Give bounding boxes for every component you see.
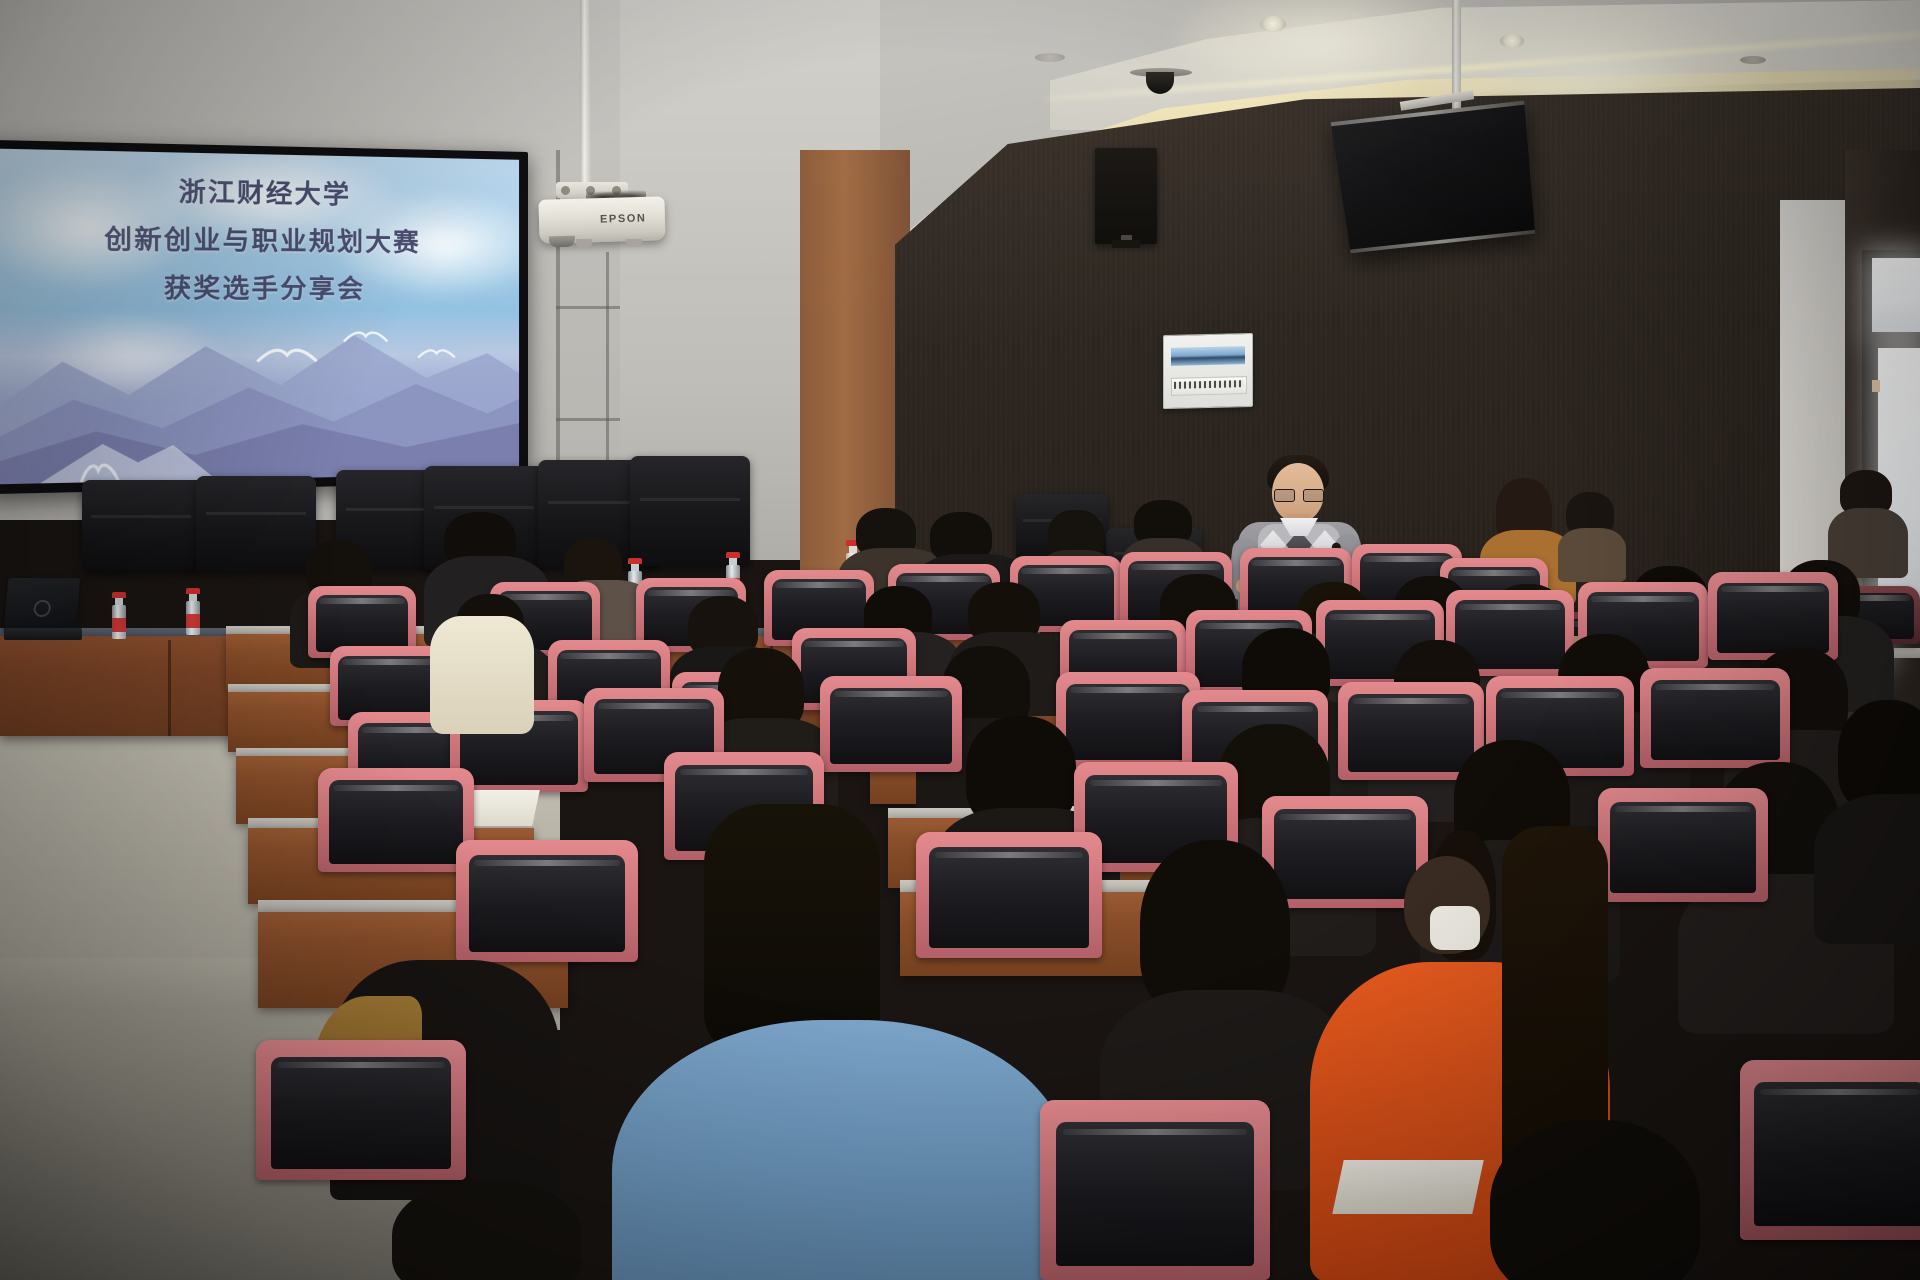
- loudspeaker-bracket: [1112, 240, 1140, 248]
- laptop-base[interactable]: [4, 628, 82, 640]
- control-panel-breakers: [1171, 376, 1247, 396]
- wall-loudspeaker: [1095, 148, 1157, 244]
- projector-mount-pole: [580, 0, 591, 188]
- window-pane: [1872, 258, 1920, 332]
- auditorium-seat[interactable]: [456, 840, 638, 962]
- auditorium-seat[interactable]: [1598, 788, 1768, 902]
- ceiling-tv-display: [1331, 101, 1535, 254]
- screen-glare: [0, 149, 519, 485]
- window-marker: [1872, 380, 1880, 392]
- projector-brand-label: EPSON: [600, 212, 647, 225]
- panel-chair[interactable]: [630, 456, 750, 566]
- control-panel-window: [1171, 346, 1245, 366]
- face-mask-icon: [1430, 906, 1480, 950]
- water-bottle[interactable]: [186, 588, 200, 635]
- auditorium-seat[interactable]: [1262, 796, 1428, 908]
- auditorium-seat[interactable]: [1040, 1100, 1270, 1280]
- laptop-lid[interactable]: [4, 578, 81, 632]
- brown-column: [800, 150, 910, 570]
- auditorium-seat[interactable]: [1056, 672, 1200, 768]
- wall-control-panel[interactable]: [1163, 333, 1253, 409]
- auditorium-seat[interactable]: [318, 768, 474, 872]
- projector-lens-icon: [549, 236, 575, 248]
- projector-foot: [576, 239, 592, 247]
- downlight-icon: [1500, 34, 1524, 48]
- glasses-icon: [1274, 489, 1322, 500]
- water-bottle[interactable]: [112, 592, 126, 639]
- auditorium-seat[interactable]: [1708, 572, 1838, 660]
- table-seam: [168, 640, 171, 736]
- projection-screen-image: 浙江财经大学 创新创业与职业规划大赛 获奖选手分享会: [0, 149, 519, 485]
- downlight-icon: [1260, 16, 1286, 32]
- auditorium-seat[interactable]: [1640, 668, 1790, 768]
- panel-chair[interactable]: [82, 480, 200, 572]
- panel-chair[interactable]: [196, 476, 316, 572]
- downlight-icon: [1035, 53, 1065, 62]
- lecture-hall-photo: 浙江财经大学 创新创业与职业规划大赛 获奖选手分享会: [0, 0, 1920, 1280]
- projection-screen: 浙江财经大学 创新创业与职业规划大赛 获奖选手分享会: [0, 140, 528, 494]
- auditorium-seat[interactable]: [1740, 1060, 1920, 1240]
- auditorium-seat[interactable]: [820, 676, 962, 772]
- auditorium-seat[interactable]: [256, 1040, 466, 1180]
- projector-foot: [626, 239, 642, 247]
- auditorium-seat[interactable]: [916, 832, 1102, 958]
- downlight-icon: [1740, 56, 1766, 64]
- paper-sheet: [1332, 1160, 1483, 1214]
